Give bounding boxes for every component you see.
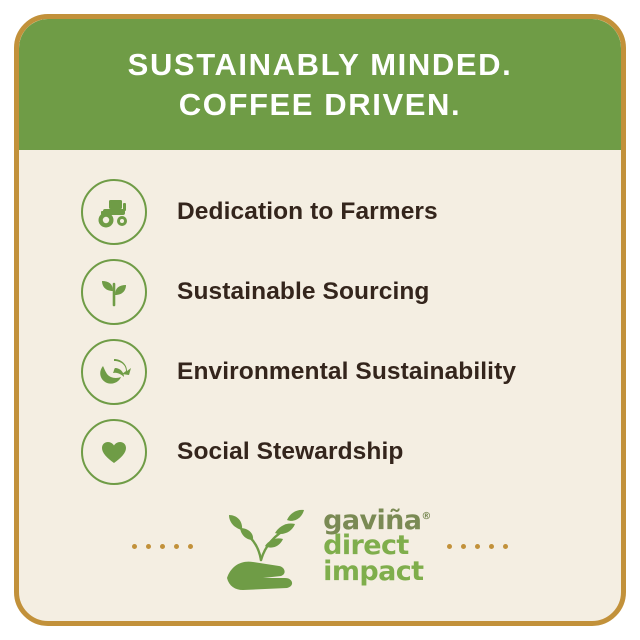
brand-word-direct: direct [323,533,431,558]
header-banner: SUSTAINABLY MINDED. COFFEE DRIVEN. [19,19,621,150]
feature-label: Environmental Sustainability [177,358,516,386]
feature-label: Sustainable Sourcing [177,278,430,306]
dot [489,544,494,549]
recycle-leaves-icon [81,339,147,405]
dot [447,544,452,549]
feature-item-dedication-to-farmers: Dedication to Farmers [19,172,621,252]
feature-label: Social Stewardship [177,438,403,466]
dot [146,544,151,549]
brand-wordmark: gaviña® direct impact [323,508,431,583]
leaf-sprout-icon [81,259,147,325]
dot [461,544,466,549]
feature-list: Dedication to Farmers Sustainable Sourci… [19,150,621,492]
promo-card: SUSTAINABLY MINDED. COFFEE DRIVEN. [14,14,626,626]
dot [503,544,508,549]
dot [188,544,193,549]
dot [132,544,137,549]
heart-hands-icon [81,419,147,485]
tractor-icon [81,179,147,245]
dot [174,544,179,549]
feature-label: Dedication to Farmers [177,198,438,226]
header-line-1: SUSTAINABLY MINDED. [128,45,513,85]
feature-item-environmental-sustainability: Environmental Sustainability [19,332,621,412]
dot [160,544,165,549]
right-dots [447,544,508,549]
brand-logo: gaviña® direct impact [209,500,431,592]
footer: gaviña® direct impact [19,491,621,601]
header-line-2: COFFEE DRIVEN. [179,85,461,125]
registered-mark: ® [421,511,430,522]
feature-item-social-stewardship: Social Stewardship [19,412,621,492]
brand-word-impact: impact [323,559,431,584]
dot [475,544,480,549]
hand-holding-plant-icon [209,500,319,592]
feature-item-sustainable-sourcing: Sustainable Sourcing [19,252,621,332]
left-dots [132,544,193,549]
